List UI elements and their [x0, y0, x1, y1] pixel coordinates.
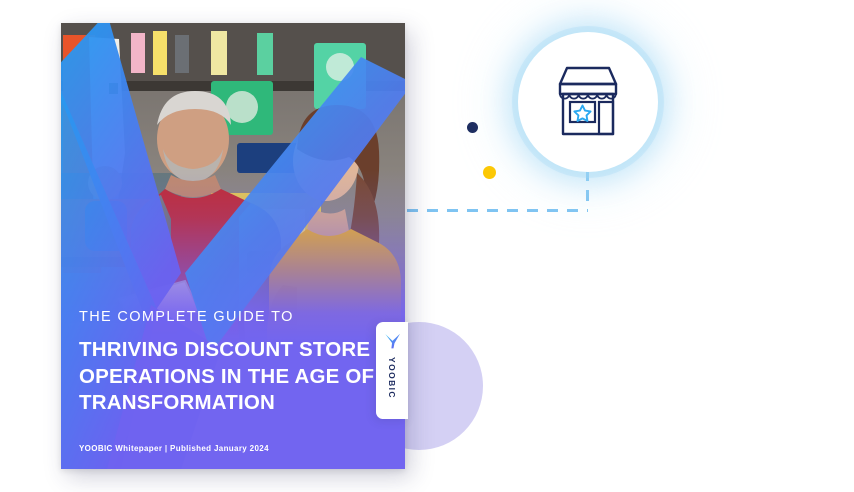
- yoobic-badge-label: YOOBIC: [387, 357, 397, 399]
- yoobic-logo-icon: [383, 331, 402, 350]
- whitepaper-cover-card[interactable]: THE COMPLETE GUIDE TO THRIVING DISCOUNT …: [61, 23, 405, 469]
- navy-dot: [467, 122, 478, 133]
- cover-byline: YOOBIC Whitepaper | Published January 20…: [79, 444, 387, 453]
- page-root: THE COMPLETE GUIDE TO THRIVING DISCOUNT …: [0, 0, 854, 492]
- yoobic-badge[interactable]: YOOBIC: [376, 322, 408, 419]
- storefront-icon: [546, 62, 630, 142]
- star-icon: [574, 106, 590, 122]
- cover-headline: THRIVING DISCOUNT STORE OPERATIONS IN TH…: [79, 337, 387, 416]
- cover-text-block: THE COMPLETE GUIDE TO THRIVING DISCOUNT …: [79, 309, 387, 453]
- dashed-connector-horizontal: [407, 209, 588, 212]
- cover-eyebrow: THE COMPLETE GUIDE TO: [79, 309, 387, 325]
- storefront-medallion: [518, 32, 658, 172]
- yellow-dot: [483, 166, 496, 179]
